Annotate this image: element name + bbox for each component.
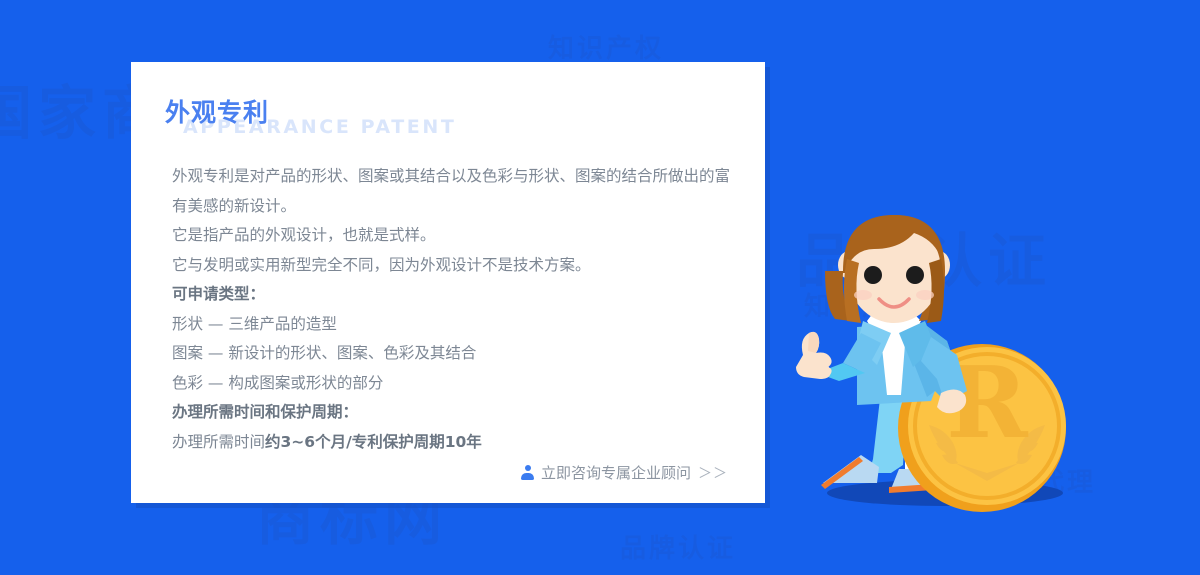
duration-prefix: 办理所需时间 (172, 433, 265, 451)
page-root: 国家商标 商标网 品牌认证 知识产权 专利代理 商标网 知识产权 品牌认证 AP… (0, 0, 1200, 575)
heading-applicable-types: 可申请类型： (172, 280, 742, 310)
content-card: APPEARANCE PATENT 外观专利 外观专利是对产品的形状、图案或其结… (131, 62, 765, 503)
type-item-shape: 形状 — 三维产品的造型 (172, 310, 742, 340)
paragraph-design: 它是指产品的外观设计，也就是式样。 (172, 221, 742, 251)
blush-right (916, 290, 934, 300)
eye-left (864, 266, 882, 284)
type-item-pattern: 图案 — 新设计的形状、图案、色彩及其结合 (172, 339, 742, 369)
page-title: 外观专利 (165, 100, 269, 125)
consult-advisor-link[interactable]: 立即咨询专属企业顾问 ＞＞ (521, 462, 728, 483)
duration-line: 办理所需时间约3~6个月/专利保护周期10年 (172, 428, 742, 458)
watermark-text: 知识产权 (548, 36, 664, 62)
blush-left (854, 290, 872, 300)
duration-value: 约3~6个月/专利保护周期10年 (265, 433, 482, 451)
card-body: 外观专利是对产品的形状、图案或其结合以及色彩与形状、图案的结合所做出的富有美感的… (172, 162, 742, 457)
eye-right (906, 266, 924, 284)
person-icon (521, 465, 534, 480)
paragraph-definition: 外观专利是对产品的形状、图案或其结合以及色彩与形状、图案的结合所做出的富有美感的… (172, 162, 742, 221)
illustration-businesswoman-coin: R (795, 215, 1085, 515)
chevron-right-icon: ＞＞ (698, 463, 728, 483)
heading-duration: 办理所需时间和保护周期： (172, 398, 742, 428)
type-item-color: 色彩 — 构成图案或形状的部分 (172, 369, 742, 399)
thumbs-up-hand (796, 332, 832, 379)
consult-link-label: 立即咨询专属企业顾问 (541, 462, 691, 483)
paragraph-difference: 它与发明或实用新型完全不同，因为外观设计不是技术方案。 (172, 251, 742, 281)
watermark-text: 品牌认证 (620, 536, 736, 562)
